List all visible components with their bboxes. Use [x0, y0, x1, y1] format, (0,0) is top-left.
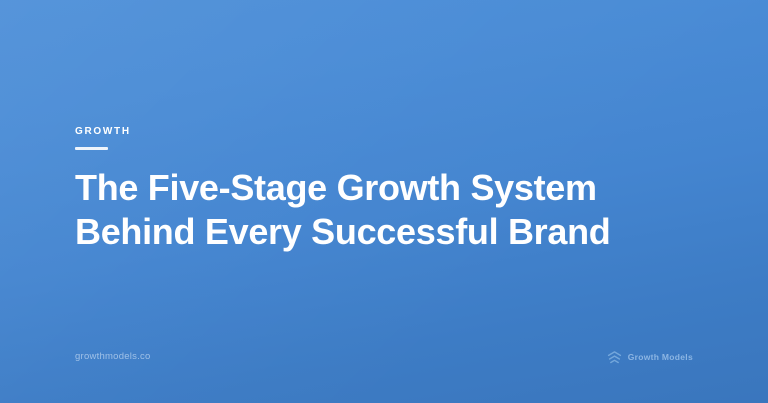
slide-content: GROWTH The Five-Stage Growth System Behi… — [0, 0, 768, 403]
eyebrow-rule — [75, 147, 108, 150]
eyebrow-block: GROWTH — [75, 126, 131, 150]
headline-line-1: The Five-Stage Growth System — [75, 166, 635, 210]
footer-website-url: growthmodels.co — [75, 351, 151, 363]
page-title: The Five-Stage Growth System Behind Ever… — [75, 166, 635, 254]
slide-footer: growthmodels.co Growth Models — [75, 349, 693, 365]
headline-line-2: Behind Every Successful Brand — [75, 210, 635, 254]
brand-logo: Growth Models — [607, 351, 693, 364]
growth-chevrons-icon — [607, 351, 622, 364]
title-slide: GROWTH The Five-Stage Growth System Behi… — [0, 0, 768, 403]
eyebrow-label: GROWTH — [75, 126, 131, 138]
brand-name-label: Growth Models — [628, 352, 693, 363]
